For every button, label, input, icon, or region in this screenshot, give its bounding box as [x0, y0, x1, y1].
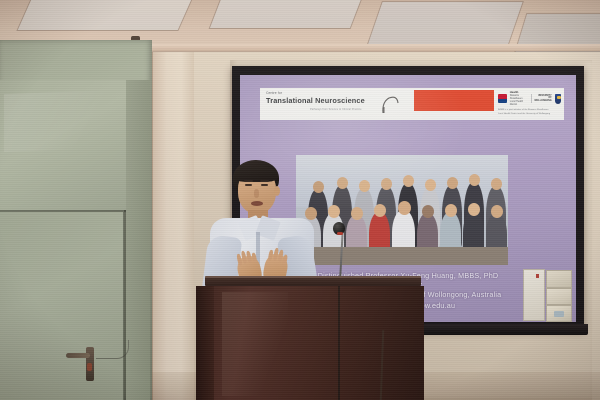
presenter-ear	[274, 186, 280, 196]
lab-device-photo	[546, 288, 572, 305]
wall-pillar	[152, 52, 194, 400]
presenter-nose	[254, 189, 259, 198]
photo-person-head	[469, 174, 480, 186]
logo-divider	[531, 94, 532, 103]
slide-header-band: Centre for Translational Neuroscience Pa…	[260, 88, 564, 120]
ceiling-panel	[210, 0, 366, 28]
ceiling-panel	[18, 0, 198, 30]
brain-swoosh-icon	[380, 93, 400, 115]
photo-person-head	[422, 205, 434, 218]
podium-side-face	[196, 286, 214, 400]
photo-person-head	[398, 201, 411, 215]
door-lower-panel	[0, 212, 124, 400]
photo-person-head	[425, 179, 436, 191]
nsw-health-text: Health Illawarra Shoalhaven Local Health…	[510, 91, 528, 106]
presenter-eyebrow	[244, 180, 253, 182]
presenter-fringe	[234, 166, 278, 182]
door-reflection	[4, 90, 124, 152]
presenter-mouth	[251, 201, 263, 206]
photo-person-head	[351, 207, 363, 220]
podium-top-highlight	[205, 276, 421, 278]
slide-partner-logos: Health Illawarra Shoalhaven Local Health…	[494, 88, 564, 120]
photo-person-head	[468, 203, 480, 216]
nsw-government-icon	[498, 94, 507, 103]
photo-person-head	[359, 180, 370, 192]
uow-line-2: WOLLONGONG	[534, 100, 551, 103]
microphone-cable	[338, 286, 340, 400]
slide-brand-block: Centre for Translational Neuroscience Pa…	[260, 88, 414, 120]
photo-person-head	[445, 204, 457, 217]
partner-fine-print: IHMRI is a joint initiative of the Illaw…	[498, 109, 561, 115]
presenter-eyebrow	[260, 180, 269, 182]
wall-cable	[96, 340, 129, 359]
podium-highlight	[222, 292, 288, 396]
presenter-finger	[282, 254, 288, 265]
photo-person-head	[374, 204, 386, 217]
photo-person-head	[381, 178, 392, 190]
lab-device-photo	[546, 305, 572, 322]
lecture-room-photo: Centre for Translational Neuroscience Pa…	[0, 0, 600, 400]
lab-device-photo	[546, 270, 572, 288]
photo-person-head	[491, 205, 503, 218]
meeting-room-door[interactable]	[0, 40, 152, 400]
door-handle-icon[interactable]	[66, 353, 90, 358]
door-keyhole-icon	[87, 363, 92, 371]
slide-accent-bar	[414, 90, 494, 111]
nsw-sub-line-2: Local Health District	[510, 100, 528, 106]
ceiling-panel	[367, 2, 522, 46]
lab-freezer-photo	[523, 269, 545, 321]
door-jamb	[126, 80, 150, 400]
photo-person-head	[403, 175, 414, 187]
fine-print-line-2: Local Health District and the University…	[498, 113, 561, 116]
photo-person-head	[447, 177, 458, 189]
nsw-health-label: Health	[510, 90, 519, 94]
uow-wordmark: UNIVERSITY OF WOLLONGONG	[534, 95, 551, 103]
logo-row: Health Illawarra Shoalhaven Local Health…	[498, 91, 561, 106]
lab-equipment-photos	[522, 267, 572, 322]
uow-crest-icon	[555, 94, 561, 104]
photo-person-head	[491, 178, 502, 190]
